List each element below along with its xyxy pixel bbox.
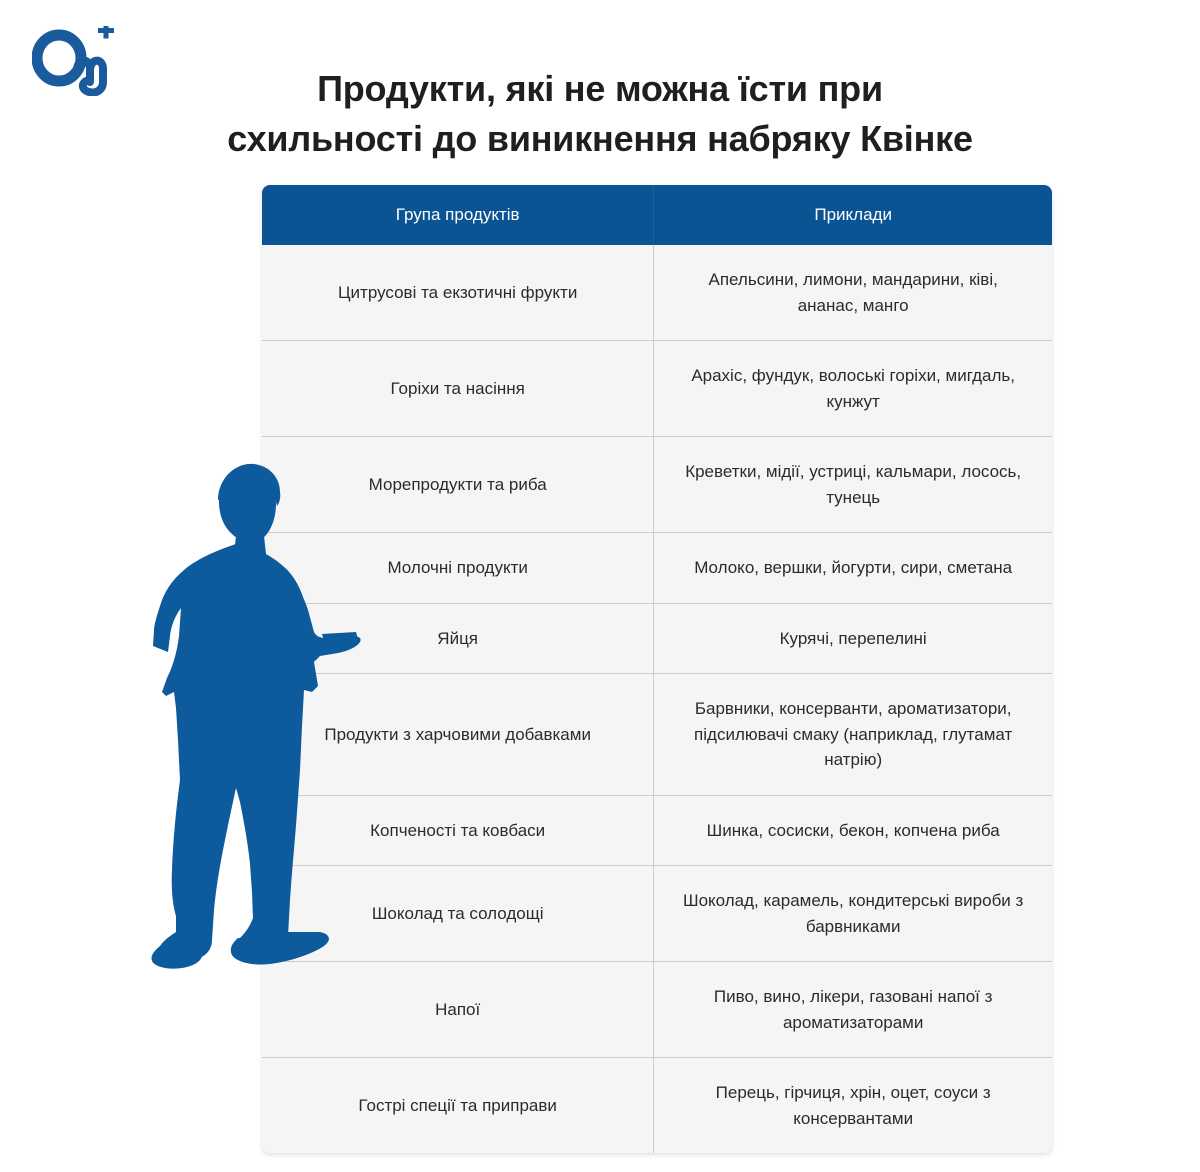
food-restrictions-table: Група продуктів Приклади Цитрусові та ек… — [262, 185, 1052, 1153]
food-restrictions-table-container: Група продуктів Приклади Цитрусові та ек… — [262, 185, 1052, 1153]
on-plus-logo — [32, 26, 124, 96]
cell-group: Молочні продукти — [262, 533, 654, 604]
cell-group: Напої — [262, 962, 654, 1058]
table-row: Яйця Курячі, перепелині — [262, 603, 1052, 674]
cell-examples: Апельсини, лимони, мандарини, ківі, анан… — [654, 245, 1052, 341]
table-row: Копченості та ковбаси Шинка, сосиски, бе… — [262, 795, 1052, 866]
on-plus-logo-icon — [32, 26, 124, 96]
cell-group: Яйця — [262, 603, 654, 674]
cell-group: Морепродукти та риба — [262, 437, 654, 533]
table-row: Горіхи та насіння Арахіс, фундук, волось… — [262, 341, 1052, 437]
cell-group: Копченості та ковбаси — [262, 795, 654, 866]
cell-group: Цитрусові та екзотичні фрукти — [262, 245, 654, 341]
column-header-examples: Приклади — [654, 185, 1052, 245]
cell-group: Шоколад та солодощі — [262, 866, 654, 962]
table-row: Цитрусові та екзотичні фрукти Апельсини,… — [262, 245, 1052, 341]
cell-examples: Арахіс, фундук, волоські горіхи, мигдаль… — [654, 341, 1052, 437]
cell-group: Горіхи та насіння — [262, 341, 654, 437]
page-title-line-1: Продукти, які не можна їсти при — [150, 64, 1050, 114]
cell-examples: Креветки, мідії, устриці, кальмари, лосо… — [654, 437, 1052, 533]
cell-examples: Пиво, вино, лікери, газовані напої з аро… — [654, 962, 1052, 1058]
table-row: Морепродукти та риба Креветки, мідії, ус… — [262, 437, 1052, 533]
page-title: Продукти, які не можна їсти при схильнос… — [150, 64, 1050, 163]
table-row: Напої Пиво, вино, лікери, газовані напої… — [262, 962, 1052, 1058]
cell-group: Продукти з харчовими добавками — [262, 674, 654, 796]
cell-examples: Молоко, вершки, йогурти, сири, сметана — [654, 533, 1052, 604]
column-header-group: Група продуктів — [262, 185, 654, 245]
table-row: Шоколад та солодощі Шоколад, карамель, к… — [262, 866, 1052, 962]
cell-examples: Шинка, сосиски, бекон, копчена риба — [654, 795, 1052, 866]
table-row: Продукти з харчовими добавками Барвники,… — [262, 674, 1052, 796]
cell-examples: Шоколад, карамель, кондитерські вироби з… — [654, 866, 1052, 962]
table-row: Молочні продукти Молоко, вершки, йогурти… — [262, 533, 1052, 604]
cell-group: Гострі спеції та приправи — [262, 1058, 654, 1154]
page-title-line-2: схильності до виникнення набряку Квінке — [150, 114, 1050, 164]
cell-examples: Барвники, консерванти, ароматизатори, пі… — [654, 674, 1052, 796]
table-row: Гострі спеції та приправи Перець, гірчиц… — [262, 1058, 1052, 1154]
cell-examples: Курячі, перепелині — [654, 603, 1052, 674]
table-header-row: Група продуктів Приклади — [262, 185, 1052, 245]
cell-examples: Перець, гірчиця, хрін, оцет, соуси з кон… — [654, 1058, 1052, 1154]
